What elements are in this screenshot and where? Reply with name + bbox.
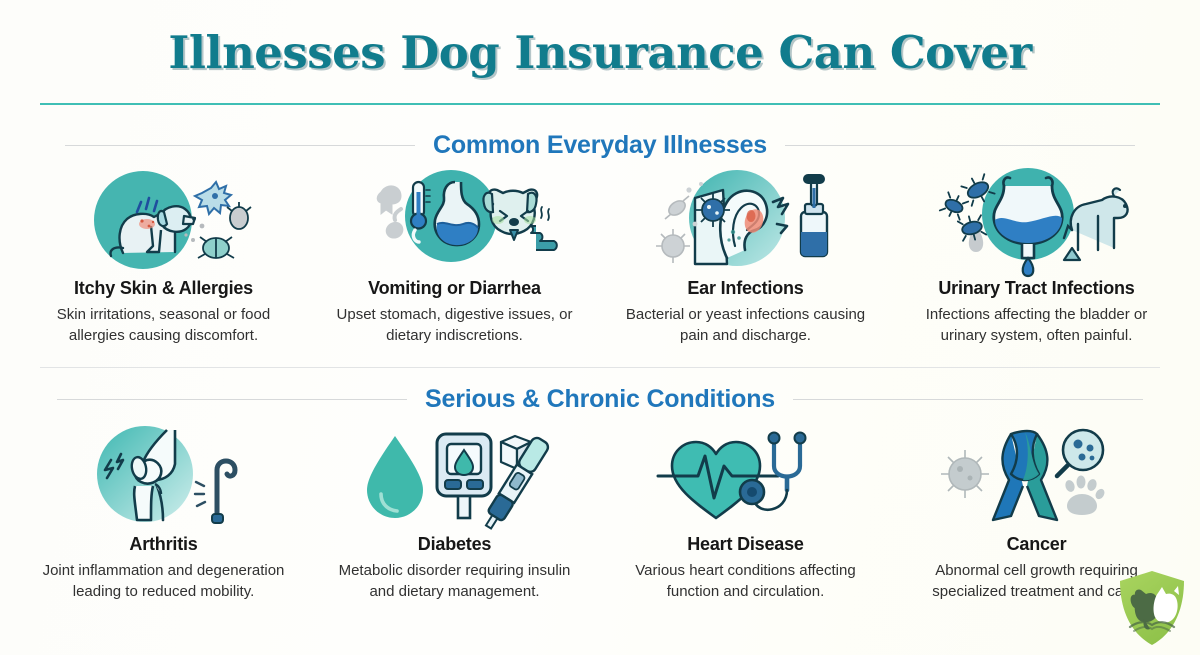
page-title: Illnesses Dog Insurance Can Cover (0, 28, 1200, 78)
card-description: Bacterial or yeast infections causing pa… (616, 304, 876, 347)
card-description: Joint inflammation and degeneration lead… (34, 560, 294, 603)
section-rule-right (793, 399, 1143, 400)
pet-shield-dog-cat-logo (1116, 569, 1188, 647)
card-description: Metabolic disorder requiring insulin and… (325, 560, 585, 603)
section-header-serious-chronic-conditions: Serious & Chronic Conditions (40, 385, 1160, 414)
card-heart-disease: Heart Disease Various heart conditions a… (600, 424, 891, 602)
title-accent-rule (40, 103, 1160, 105)
card-description: Upset stomach, digestive issues, or diet… (325, 304, 585, 347)
card-title: Itchy Skin & Allergies (74, 278, 253, 300)
knee-joint-cane-icon (26, 424, 301, 528)
card-arthritis: Arthritis Joint inflammation and degener… (18, 424, 309, 602)
bladder-bacteria-dog-icon (899, 168, 1174, 272)
card-itchy-skin-allergies: Itchy Skin & Allergies Skin irritations,… (18, 168, 309, 346)
card-title: Heart Disease (687, 534, 803, 556)
card-vomiting-diarrhea: Vomiting or Diarrhea Upset stomach, dige… (309, 168, 600, 346)
section-rule-left (65, 145, 415, 146)
section-divider (40, 367, 1160, 368)
section-rule-right (785, 145, 1135, 146)
section-rule-left (57, 399, 407, 400)
card-description: Skin irritations, seasonal or food aller… (34, 304, 294, 347)
card-title: Ear Infections (687, 278, 803, 300)
infographic-page: Illnesses Dog Insurance Can Cover Common… (0, 0, 1200, 655)
awareness-ribbon-cell-paw-icon (899, 424, 1174, 528)
section-title: Common Everyday Illnesses (433, 131, 767, 160)
section-title: Serious & Chronic Conditions (425, 385, 775, 414)
card-title: Arthritis (129, 534, 197, 556)
section-header-common-everyday-illnesses: Common Everyday Illnesses (40, 131, 1160, 160)
card-row-common-everyday-illnesses: Itchy Skin & Allergies Skin irritations,… (18, 168, 1182, 346)
card-row-serious-chronic-conditions: Arthritis Joint inflammation and degener… (18, 424, 1182, 602)
card-title: Cancer (1007, 534, 1067, 556)
ear-bacteria-dropper-icon (608, 168, 883, 272)
card-title: Vomiting or Diarrhea (368, 278, 541, 300)
title-block: Illnesses Dog Insurance Can Cover (0, 0, 1200, 78)
card-title: Urinary Tract Infections (938, 278, 1134, 300)
stomach-thermometer-sick-dog-icon (317, 168, 592, 272)
dog-scratching-allergies-icon (26, 168, 301, 272)
card-urinary-tract-infections: Urinary Tract Infections Infections affe… (891, 168, 1182, 346)
card-title: Diabetes (418, 534, 491, 556)
card-ear-infections: Ear Infections Bacterial or yeast infect… (600, 168, 891, 346)
glucose-meter-insulin-pen-icon (317, 424, 592, 528)
card-diabetes: Diabetes Metabolic disorder requiring in… (309, 424, 600, 602)
card-description: Infections affecting the bladder or urin… (907, 304, 1167, 347)
card-description: Various heart conditions affecting funct… (616, 560, 876, 603)
heart-ekg-stethoscope-icon (608, 424, 883, 528)
